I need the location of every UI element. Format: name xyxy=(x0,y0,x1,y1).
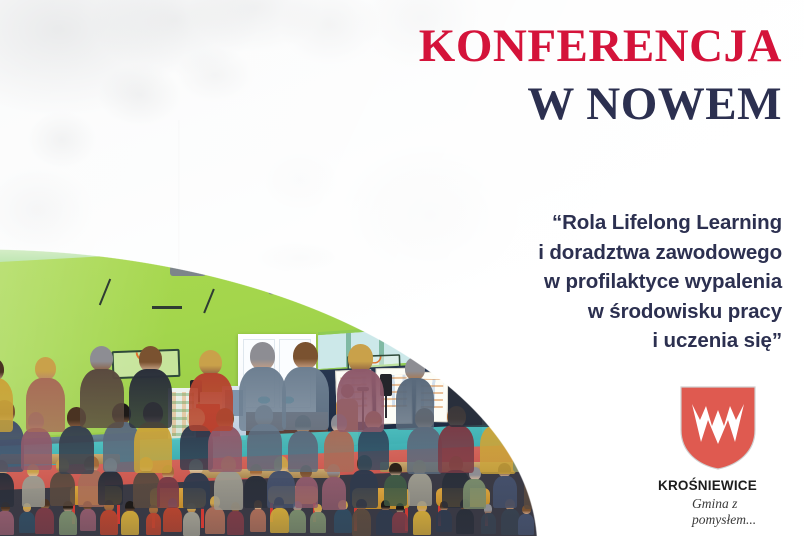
audience-torso xyxy=(26,378,66,432)
audience-member xyxy=(282,342,329,430)
audience-head xyxy=(250,342,275,370)
audience-member xyxy=(396,357,434,429)
audience-torso xyxy=(310,512,326,533)
audience-torso xyxy=(501,509,520,535)
audience-torso xyxy=(59,511,77,536)
audience-torso xyxy=(396,378,434,430)
audience-torso xyxy=(80,509,96,531)
audience-head xyxy=(90,346,113,372)
audience-torso xyxy=(59,426,94,474)
audience-torso xyxy=(129,369,173,428)
audience-torso xyxy=(98,471,123,505)
audience-torso xyxy=(80,369,124,428)
poster-headline: KONFERENCJA W NOWEM xyxy=(419,22,782,130)
conference-poster: KONFERENCJA W NOWEM “Rola Lifelong Learn… xyxy=(0,0,804,536)
audience-torso xyxy=(324,430,355,472)
audience-torso xyxy=(35,508,54,533)
audience-head xyxy=(405,357,425,380)
audience-head xyxy=(293,342,318,370)
audience-head xyxy=(35,357,56,380)
audience-torso xyxy=(0,378,13,431)
audience-torso xyxy=(350,470,378,508)
audience-torso xyxy=(384,475,407,506)
audience-torso xyxy=(438,425,473,473)
audience-member xyxy=(129,346,173,428)
audience-torso xyxy=(214,471,242,509)
audience-head xyxy=(0,358,4,381)
audience-torso xyxy=(270,508,289,534)
audience-member xyxy=(189,350,233,432)
audience-torso xyxy=(352,509,372,536)
audience-torso xyxy=(524,472,548,509)
audience-crowd xyxy=(0,366,548,536)
subtitle-line-5: i uczenia się” xyxy=(432,326,782,356)
audience-torso xyxy=(146,513,162,535)
logo-municipality-name: KROŚNIEWICE xyxy=(658,478,757,493)
audience-torso xyxy=(456,509,474,534)
audience-torso xyxy=(239,367,286,431)
audience-torso xyxy=(392,512,408,534)
subtitle-line-2: i doradztwa zawodowego xyxy=(432,238,782,268)
audience-torso xyxy=(282,367,329,430)
audience-torso xyxy=(518,514,534,536)
subtitle-line-3: w profilaktyce wypalenia xyxy=(432,267,782,297)
audience-member xyxy=(59,501,77,535)
audience-torso xyxy=(21,428,52,470)
audience-member xyxy=(239,342,286,431)
poster-subtitle-quote: “Rola Lifelong Learning i doradztwa zawo… xyxy=(432,208,782,356)
audience-torso xyxy=(295,477,318,508)
audience-torso xyxy=(436,510,453,532)
audience-torso xyxy=(50,472,75,506)
wall-bar xyxy=(152,306,182,309)
shield-w-coat-of-arms-icon xyxy=(680,386,756,470)
audience-head xyxy=(348,344,373,371)
audience-torso xyxy=(227,511,245,535)
audience-member xyxy=(26,357,66,431)
audience-torso xyxy=(189,373,233,432)
headline-line-2: W NOWEM xyxy=(419,80,782,130)
audience-member xyxy=(80,346,124,428)
audience-torso xyxy=(121,511,139,535)
audience-torso xyxy=(493,476,517,508)
audience-torso xyxy=(481,513,497,534)
audience-torso xyxy=(334,509,352,533)
audience-torso xyxy=(267,471,295,508)
audience-member xyxy=(0,358,13,432)
audience-torso xyxy=(157,477,179,507)
audience-torso xyxy=(408,473,432,506)
audience-torso xyxy=(0,473,14,507)
audience-torso xyxy=(183,473,210,509)
ceiling-light-1 xyxy=(170,266,206,276)
audience-torso xyxy=(208,426,242,472)
audience-torso xyxy=(244,476,268,508)
audience-torso xyxy=(448,361,497,428)
audience-torso xyxy=(19,512,35,534)
audience-torso xyxy=(22,476,45,507)
audience-torso xyxy=(250,509,267,532)
audience-member xyxy=(518,505,534,535)
subtitle-line-4: w środowisku pracy xyxy=(432,297,782,327)
chair-leg xyxy=(201,507,204,529)
audience-head xyxy=(389,463,401,477)
audience-torso xyxy=(513,430,543,471)
audience-member xyxy=(19,503,35,533)
logo-tagline: Gmina z pomysłem... xyxy=(692,496,786,528)
audience-member xyxy=(392,503,408,533)
audience-torso xyxy=(337,369,383,432)
audience-torso xyxy=(134,422,172,473)
audience-torso xyxy=(499,362,548,428)
audience-member xyxy=(146,505,162,535)
krosniewice-logo: KROŚNIEWICE Gmina z pomysłem... xyxy=(636,382,786,522)
audience-torso xyxy=(289,510,306,532)
audience-torso xyxy=(100,510,119,535)
audience-torso xyxy=(0,511,14,535)
audience-head xyxy=(199,350,222,376)
audience-torso xyxy=(183,512,201,536)
audience-torso xyxy=(163,507,181,532)
audience-torso xyxy=(463,479,486,510)
audience-head xyxy=(139,346,162,372)
audience-torso xyxy=(205,507,225,534)
audience-torso xyxy=(358,427,389,469)
audience-torso xyxy=(480,425,516,474)
audience-torso xyxy=(407,427,442,474)
audience-torso xyxy=(288,431,318,471)
audience-torso xyxy=(322,477,346,510)
audience-torso xyxy=(413,511,431,535)
audience-member xyxy=(22,464,45,507)
audience-torso xyxy=(133,471,160,508)
audience-member xyxy=(337,344,383,432)
subtitle-line-1: “Rola Lifelong Learning xyxy=(432,208,782,238)
headline-line-1: KONFERENCJA xyxy=(419,22,782,72)
